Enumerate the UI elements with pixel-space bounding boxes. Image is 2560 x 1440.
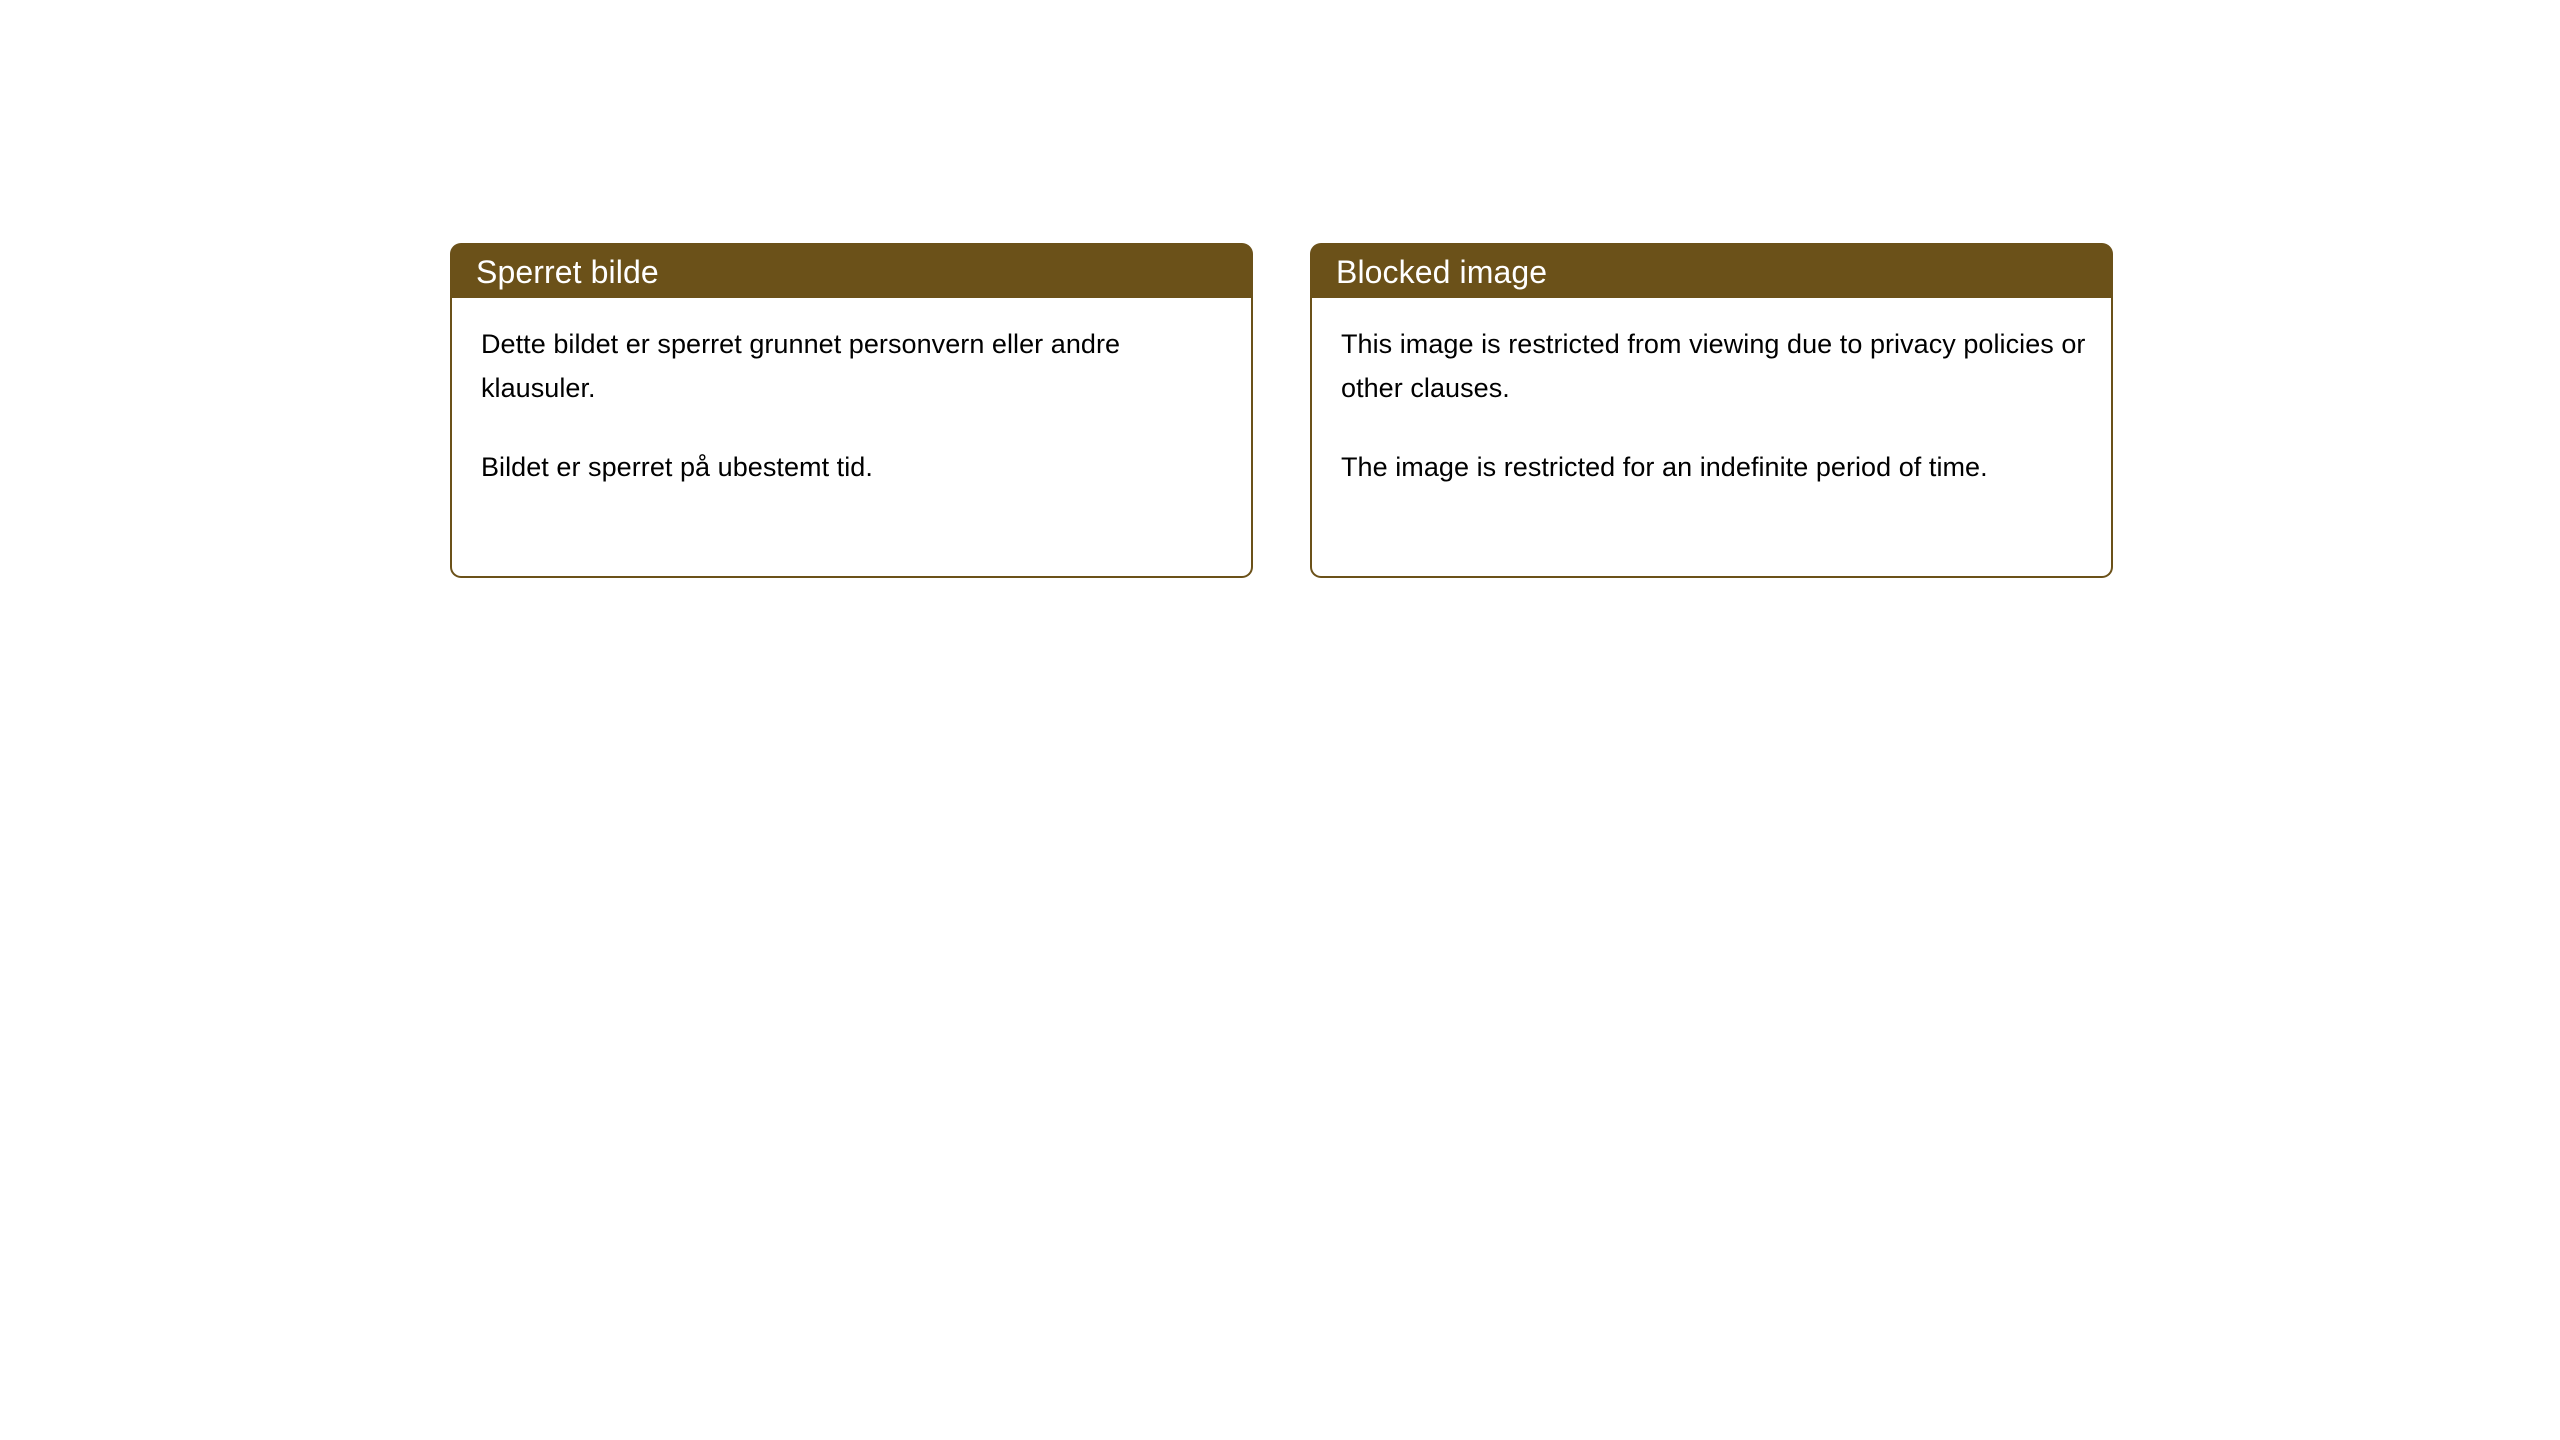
panel-body-no: Dette bildet er sperret grunnet personve… bbox=[450, 298, 1253, 578]
panel-title-en: Blocked image bbox=[1310, 254, 1547, 290]
panel-paragraph-en-1: This image is restricted from viewing du… bbox=[1341, 322, 2089, 410]
panel-header-en: Blocked image bbox=[1310, 243, 2113, 300]
blocked-image-notice-no: Sperret bilde Dette bildet er sperret gr… bbox=[450, 243, 1253, 578]
blocked-image-notice-en: Blocked image This image is restricted f… bbox=[1310, 243, 2113, 578]
page-root: Sperret bilde Dette bildet er sperret gr… bbox=[0, 0, 2560, 1440]
panel-paragraph-no-2: Bildet er sperret på ubestemt tid. bbox=[481, 445, 1229, 489]
panel-paragraph-no-1: Dette bildet er sperret grunnet personve… bbox=[481, 322, 1229, 410]
panel-body-en: This image is restricted from viewing du… bbox=[1310, 298, 2113, 578]
panel-header-no: Sperret bilde bbox=[450, 243, 1253, 300]
panel-title-no: Sperret bilde bbox=[450, 254, 659, 290]
panel-paragraph-en-2: The image is restricted for an indefinit… bbox=[1341, 445, 2089, 489]
